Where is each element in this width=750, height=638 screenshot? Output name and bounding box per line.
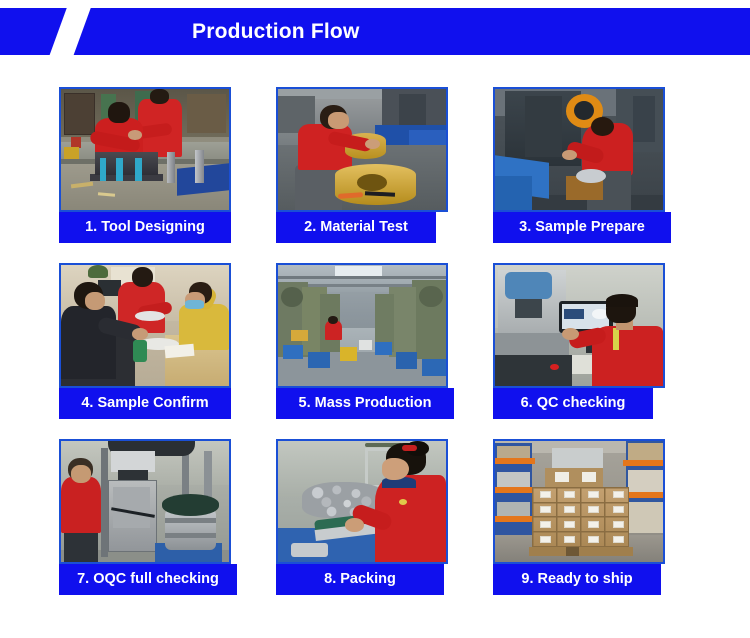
step-9-caption: 9. Ready to ship [493, 564, 661, 595]
header-slash-decoration [47, 8, 93, 55]
step-card-3[interactable]: 3. Sample Prepare [493, 87, 665, 243]
step-card-6[interactable]: 6. QC checking [493, 263, 665, 419]
step-8-caption: 8. Packing [276, 564, 444, 595]
production-flow-grid: 1. Tool Designing 2. Material Test [59, 87, 663, 595]
production-flow-page: Production Flow 1. Tool Designing [0, 0, 750, 638]
step-4-photo [59, 263, 231, 388]
step-9-photo [493, 439, 665, 564]
step-4-caption: 4. Sample Confirm [59, 388, 231, 419]
step-6-photo [493, 263, 665, 388]
step-1-caption: 1. Tool Designing [59, 212, 231, 243]
step-2-caption: 2. Material Test [276, 212, 436, 243]
step-card-4[interactable]: 4. Sample Confirm [59, 263, 231, 419]
step-card-1[interactable]: 1. Tool Designing [59, 87, 231, 243]
step-1-photo [59, 87, 231, 212]
step-card-5[interactable]: 5. Mass Production [276, 263, 448, 419]
step-card-7[interactable]: 7. OQC full checking [59, 439, 231, 595]
step-5-photo [276, 263, 448, 388]
step-3-photo [493, 87, 665, 212]
page-title: Production Flow [192, 8, 359, 55]
step-card-9[interactable]: 9. Ready to ship [493, 439, 665, 595]
step-7-caption: 7. OQC full checking [59, 564, 237, 595]
step-3-caption: 3. Sample Prepare [493, 212, 671, 243]
step-8-photo [276, 439, 448, 564]
step-2-photo [276, 87, 448, 212]
step-7-photo [59, 439, 231, 564]
step-card-2[interactable]: 2. Material Test [276, 87, 448, 243]
page-header-banner: Production Flow [0, 8, 750, 55]
step-6-caption: 6. QC checking [493, 388, 653, 419]
step-card-8[interactable]: 8. Packing [276, 439, 448, 595]
step-5-caption: 5. Mass Production [276, 388, 454, 419]
